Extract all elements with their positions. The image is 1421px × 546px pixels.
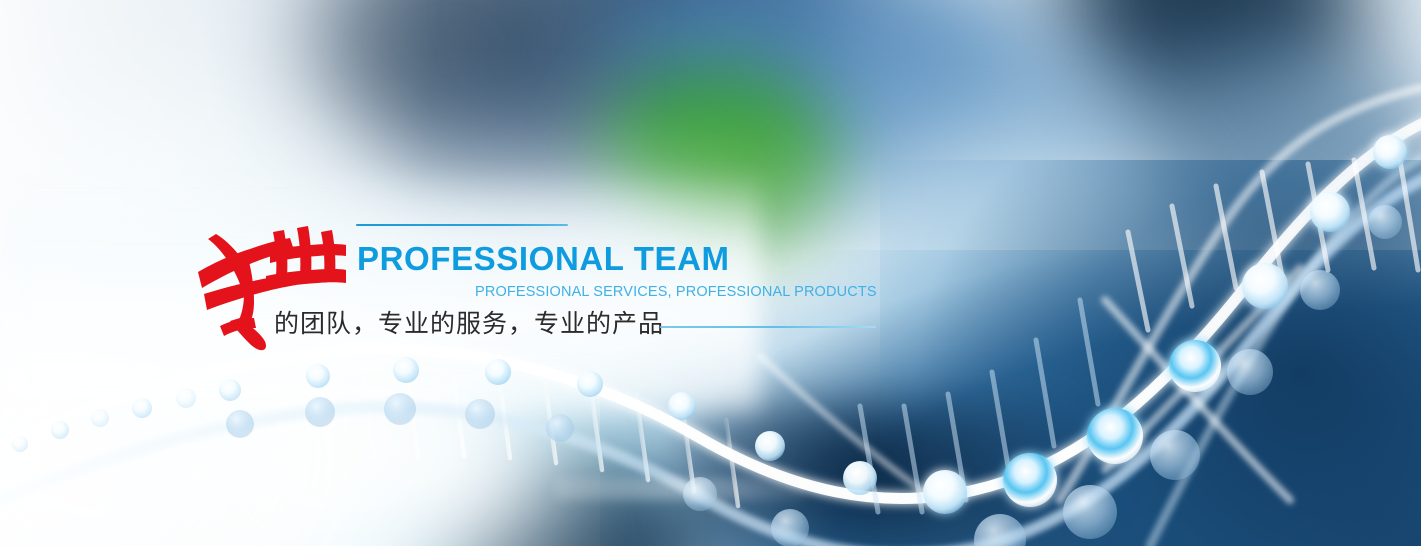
page-subtitle: PROFESSIONAL SERVICES, PROFESSIONAL PROD…: [475, 285, 877, 300]
accent-rule-bottom: [660, 326, 876, 328]
accent-rule-top: [356, 224, 568, 226]
banner-content: PROFESSIONAL TEAM PROFESSIONAL SERVICES,…: [0, 0, 1421, 546]
professional-team-banner: PROFESSIONAL TEAM PROFESSIONAL SERVICES,…: [0, 0, 1421, 546]
page-title: PROFESSIONAL TEAM: [357, 242, 730, 275]
tagline-chinese: 的团队，专业的服务，专业的产品: [274, 308, 664, 339]
